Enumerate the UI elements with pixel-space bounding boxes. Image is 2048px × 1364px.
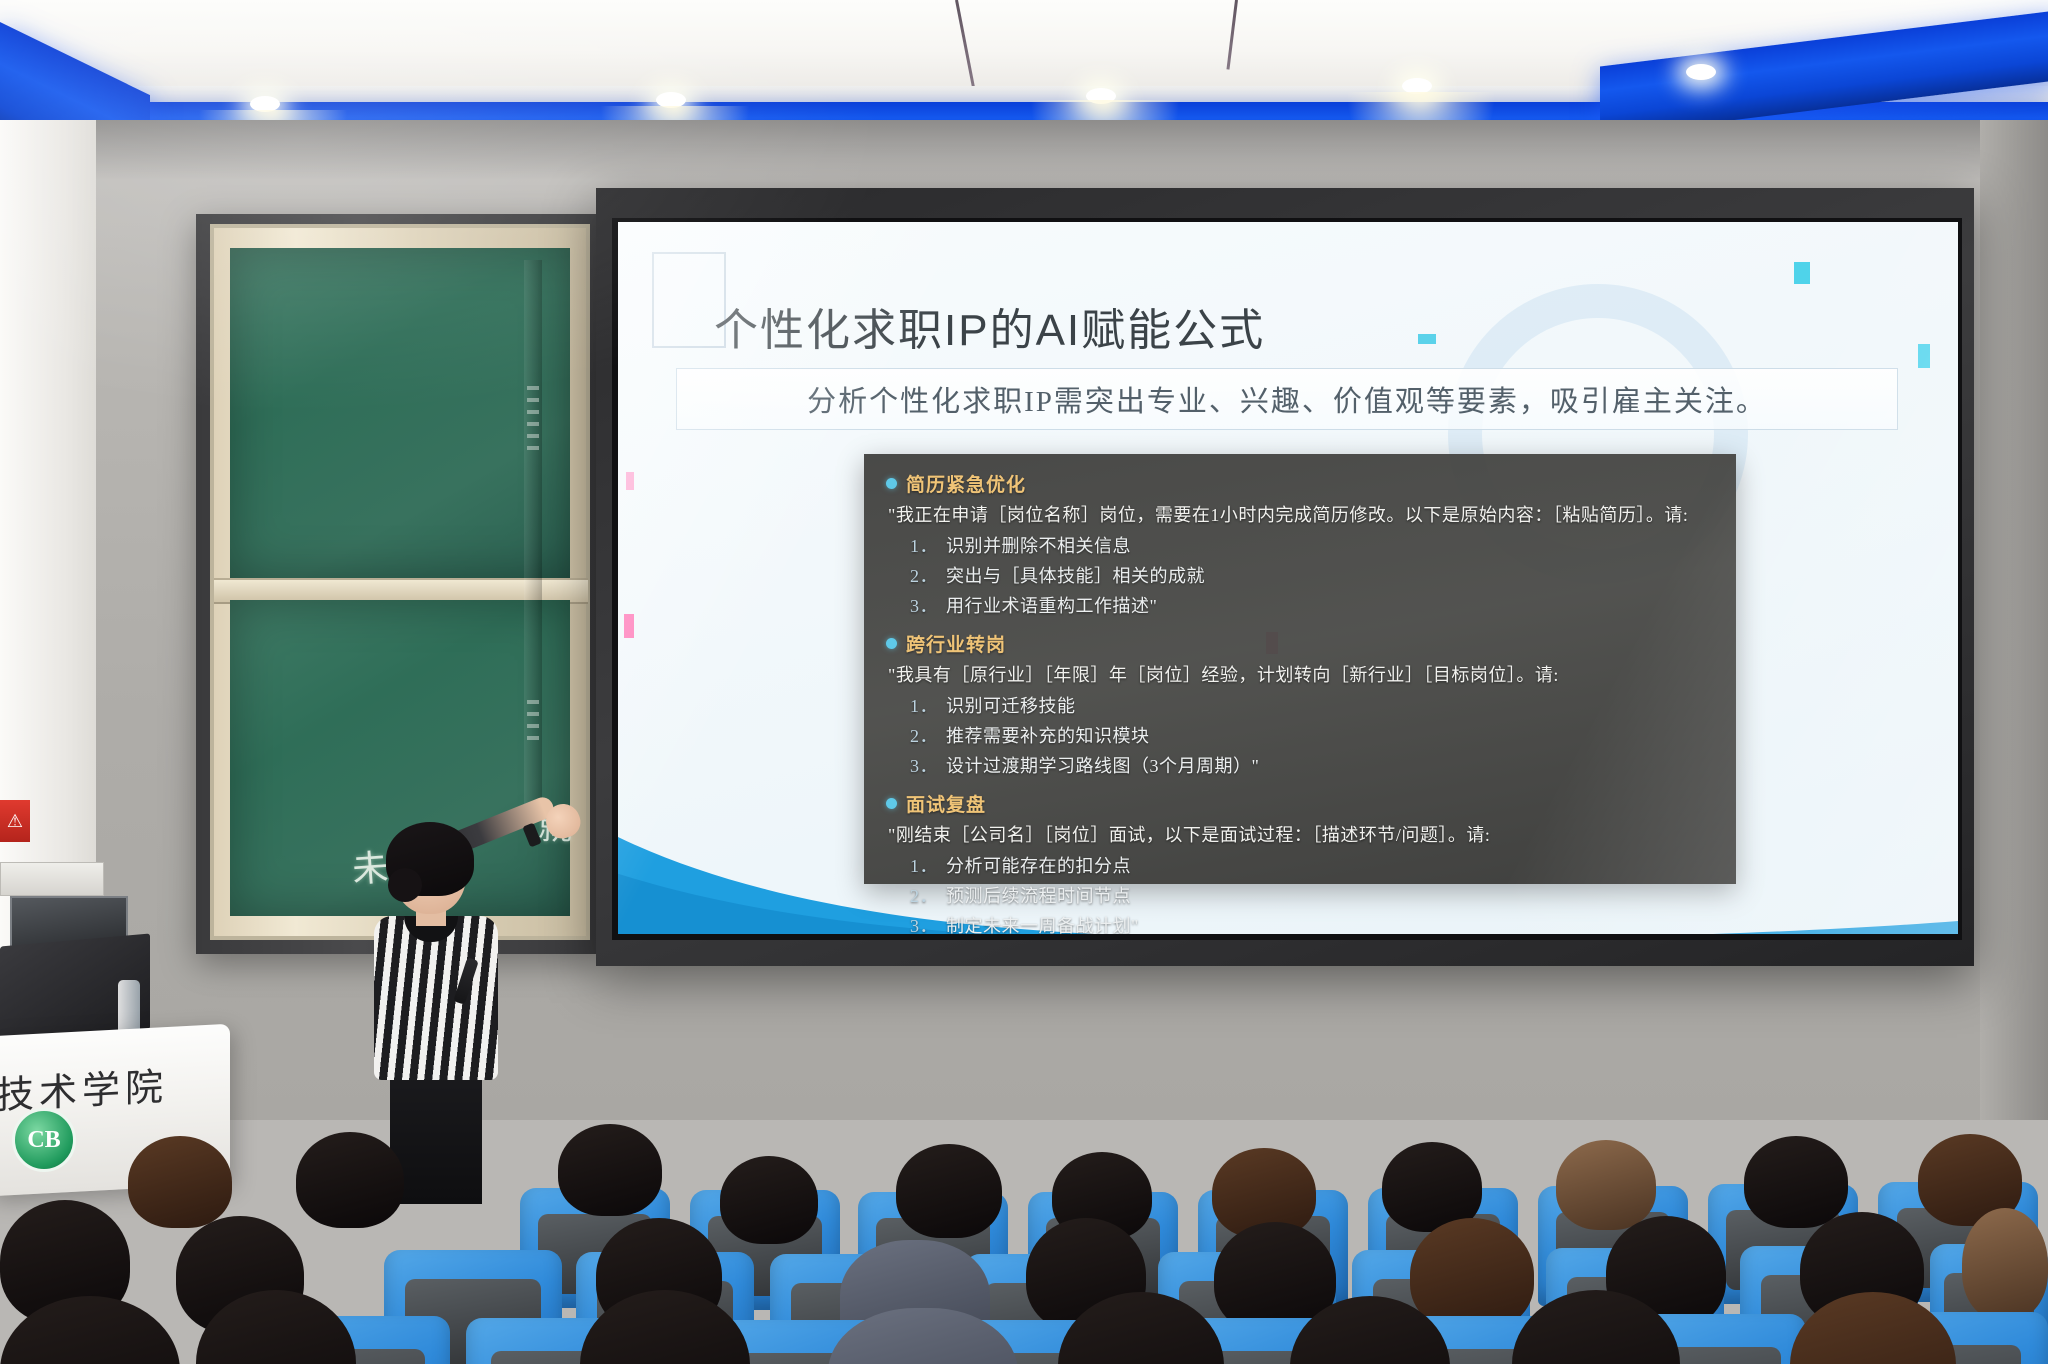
- prompt-list-item: 3．用行业术语重构工作描述": [910, 592, 1716, 618]
- list-number: 2．: [910, 886, 938, 906]
- prompt-list-item: 1．识别可迁移技能: [910, 692, 1716, 718]
- ceiling-spotlight: [1686, 64, 1716, 80]
- list-text: 预测后续流程时间节点: [946, 886, 1131, 906]
- prompt-block-title: 面试复盘: [906, 790, 986, 817]
- prompt-block: 简历紧急优化 "我正在申请［岗位名称］岗位，需要在1小时内完成简历修改。以下是原…: [886, 470, 1716, 618]
- bullet-dot-icon: [886, 478, 897, 489]
- prompt-block-head: 简历紧急优化: [886, 470, 1716, 497]
- prompt-block-head: 面试复盘: [886, 790, 1716, 817]
- wall-shadow: [96, 120, 2048, 180]
- audience-head: [296, 1132, 404, 1228]
- cyan-accent-icon: [1794, 262, 1810, 284]
- prompt-block-title: 跨行业转岗: [906, 630, 1006, 657]
- bullet-dot-icon: [886, 798, 897, 809]
- list-number: 2．: [910, 726, 938, 746]
- list-number: 1．: [910, 856, 938, 876]
- pink-accent-icon: [624, 614, 634, 638]
- chalkboard-upper-panel: [230, 248, 570, 578]
- prompt-block: 面试复盘 "刚结束［公司名］［岗位］面试，以下是面试过程：［描述环节/问题］。请…: [886, 790, 1716, 934]
- pink-accent-icon: [626, 472, 634, 490]
- warning-sign-icon: [0, 800, 30, 842]
- audience-head: [128, 1136, 232, 1228]
- list-number: 3．: [910, 596, 938, 616]
- slide-title: 个性化求职IP的AI赋能公式: [714, 294, 1265, 358]
- list-text: 识别并删除不相关信息: [946, 536, 1131, 556]
- list-text: 突出与［具体技能］相关的成就: [946, 566, 1205, 586]
- audience-head: [1556, 1140, 1656, 1230]
- cyan-accent-icon: [1918, 344, 1930, 368]
- list-number: 2．: [910, 566, 938, 586]
- audience-head: [1410, 1218, 1534, 1332]
- audience-head: [896, 1144, 1002, 1238]
- list-number: 3．: [910, 756, 938, 776]
- prompt-list-item: 2．预测后续流程时间节点: [910, 882, 1716, 908]
- list-number: 3．: [910, 916, 938, 934]
- prompt-block-quote: "刚结束［公司名］［岗位］面试，以下是面试过程：［描述环节/问题］。请:: [888, 821, 1716, 847]
- prompt-block-quote: "我具有［原行业］［年限］年［岗位］经验，计划转向［新行业］［目标岗位］。请:: [888, 661, 1716, 687]
- presenter-hair-bun: [388, 868, 422, 902]
- prompt-list-item: 1．识别并删除不相关信息: [910, 532, 1716, 558]
- list-text: 设计过渡期学习路线图（3个月周期）": [946, 756, 1259, 776]
- list-number: 1．: [910, 696, 938, 716]
- right-wall-panel: [1980, 120, 2048, 1120]
- bullet-dot-icon: [886, 638, 897, 649]
- lecture-hall-photo: 未 茹 就 个性化求职IP的AI赋能公式 分析个性化求职IP需突出专业、兴趣、价…: [0, 0, 2048, 1364]
- prompt-block-title: 简历紧急优化: [906, 470, 1026, 497]
- audience-head: [558, 1124, 662, 1216]
- prompt-block-head: 跨行业转岗: [886, 630, 1716, 657]
- audience-head: [720, 1156, 818, 1244]
- prompt-block: 跨行业转岗 "我具有［原行业］［年限］年［岗位］经验，计划转向［新行业］［目标岗…: [886, 630, 1716, 778]
- cyan-accent-icon: [1418, 334, 1436, 344]
- control-panel[interactable]: [0, 862, 104, 896]
- audience-head: [1962, 1208, 2048, 1320]
- prompt-list-item: 3．制定未来一周备战计划": [910, 912, 1716, 934]
- audience-head: [1744, 1136, 1848, 1228]
- list-text: 识别可迁移技能: [946, 696, 1076, 716]
- prompt-block-quote: "我正在申请［岗位名称］岗位，需要在1小时内完成简历修改。以下是原始内容：［粘贴…: [888, 501, 1716, 527]
- list-text: 制定未来一周备战计划": [946, 916, 1139, 934]
- list-text: 用行业术语重构工作描述": [946, 596, 1157, 616]
- list-text: 推荐需要补充的知识模块: [946, 726, 1150, 746]
- prompt-list-item: 2．突出与［具体技能］相关的成就: [910, 562, 1716, 588]
- list-text: 分析可能存在的扣分点: [946, 856, 1131, 876]
- prompt-panel: 简历紧急优化 "我正在申请［岗位名称］岗位，需要在1小时内完成简历修改。以下是原…: [864, 454, 1736, 884]
- audience-seating: [0, 1040, 2048, 1364]
- slide-subtitle: 分析个性化求职IP需突出专业、兴趣、价值观等要素，吸引雇主关注。: [807, 378, 1767, 420]
- slide-subtitle-box: 分析个性化求职IP需突出专业、兴趣、价值观等要素，吸引雇主关注。: [676, 368, 1898, 430]
- presentation-slide[interactable]: 个性化求职IP的AI赋能公式 分析个性化求职IP需突出专业、兴趣、价值观等要素，…: [618, 222, 1958, 934]
- prompt-list-item: 1．分析可能存在的扣分点: [910, 852, 1716, 878]
- prompt-list-item: 2．推荐需要补充的知识模块: [910, 722, 1716, 748]
- prompt-list-item: 3．设计过渡期学习路线图（3个月周期）": [910, 752, 1716, 778]
- list-number: 1．: [910, 536, 938, 556]
